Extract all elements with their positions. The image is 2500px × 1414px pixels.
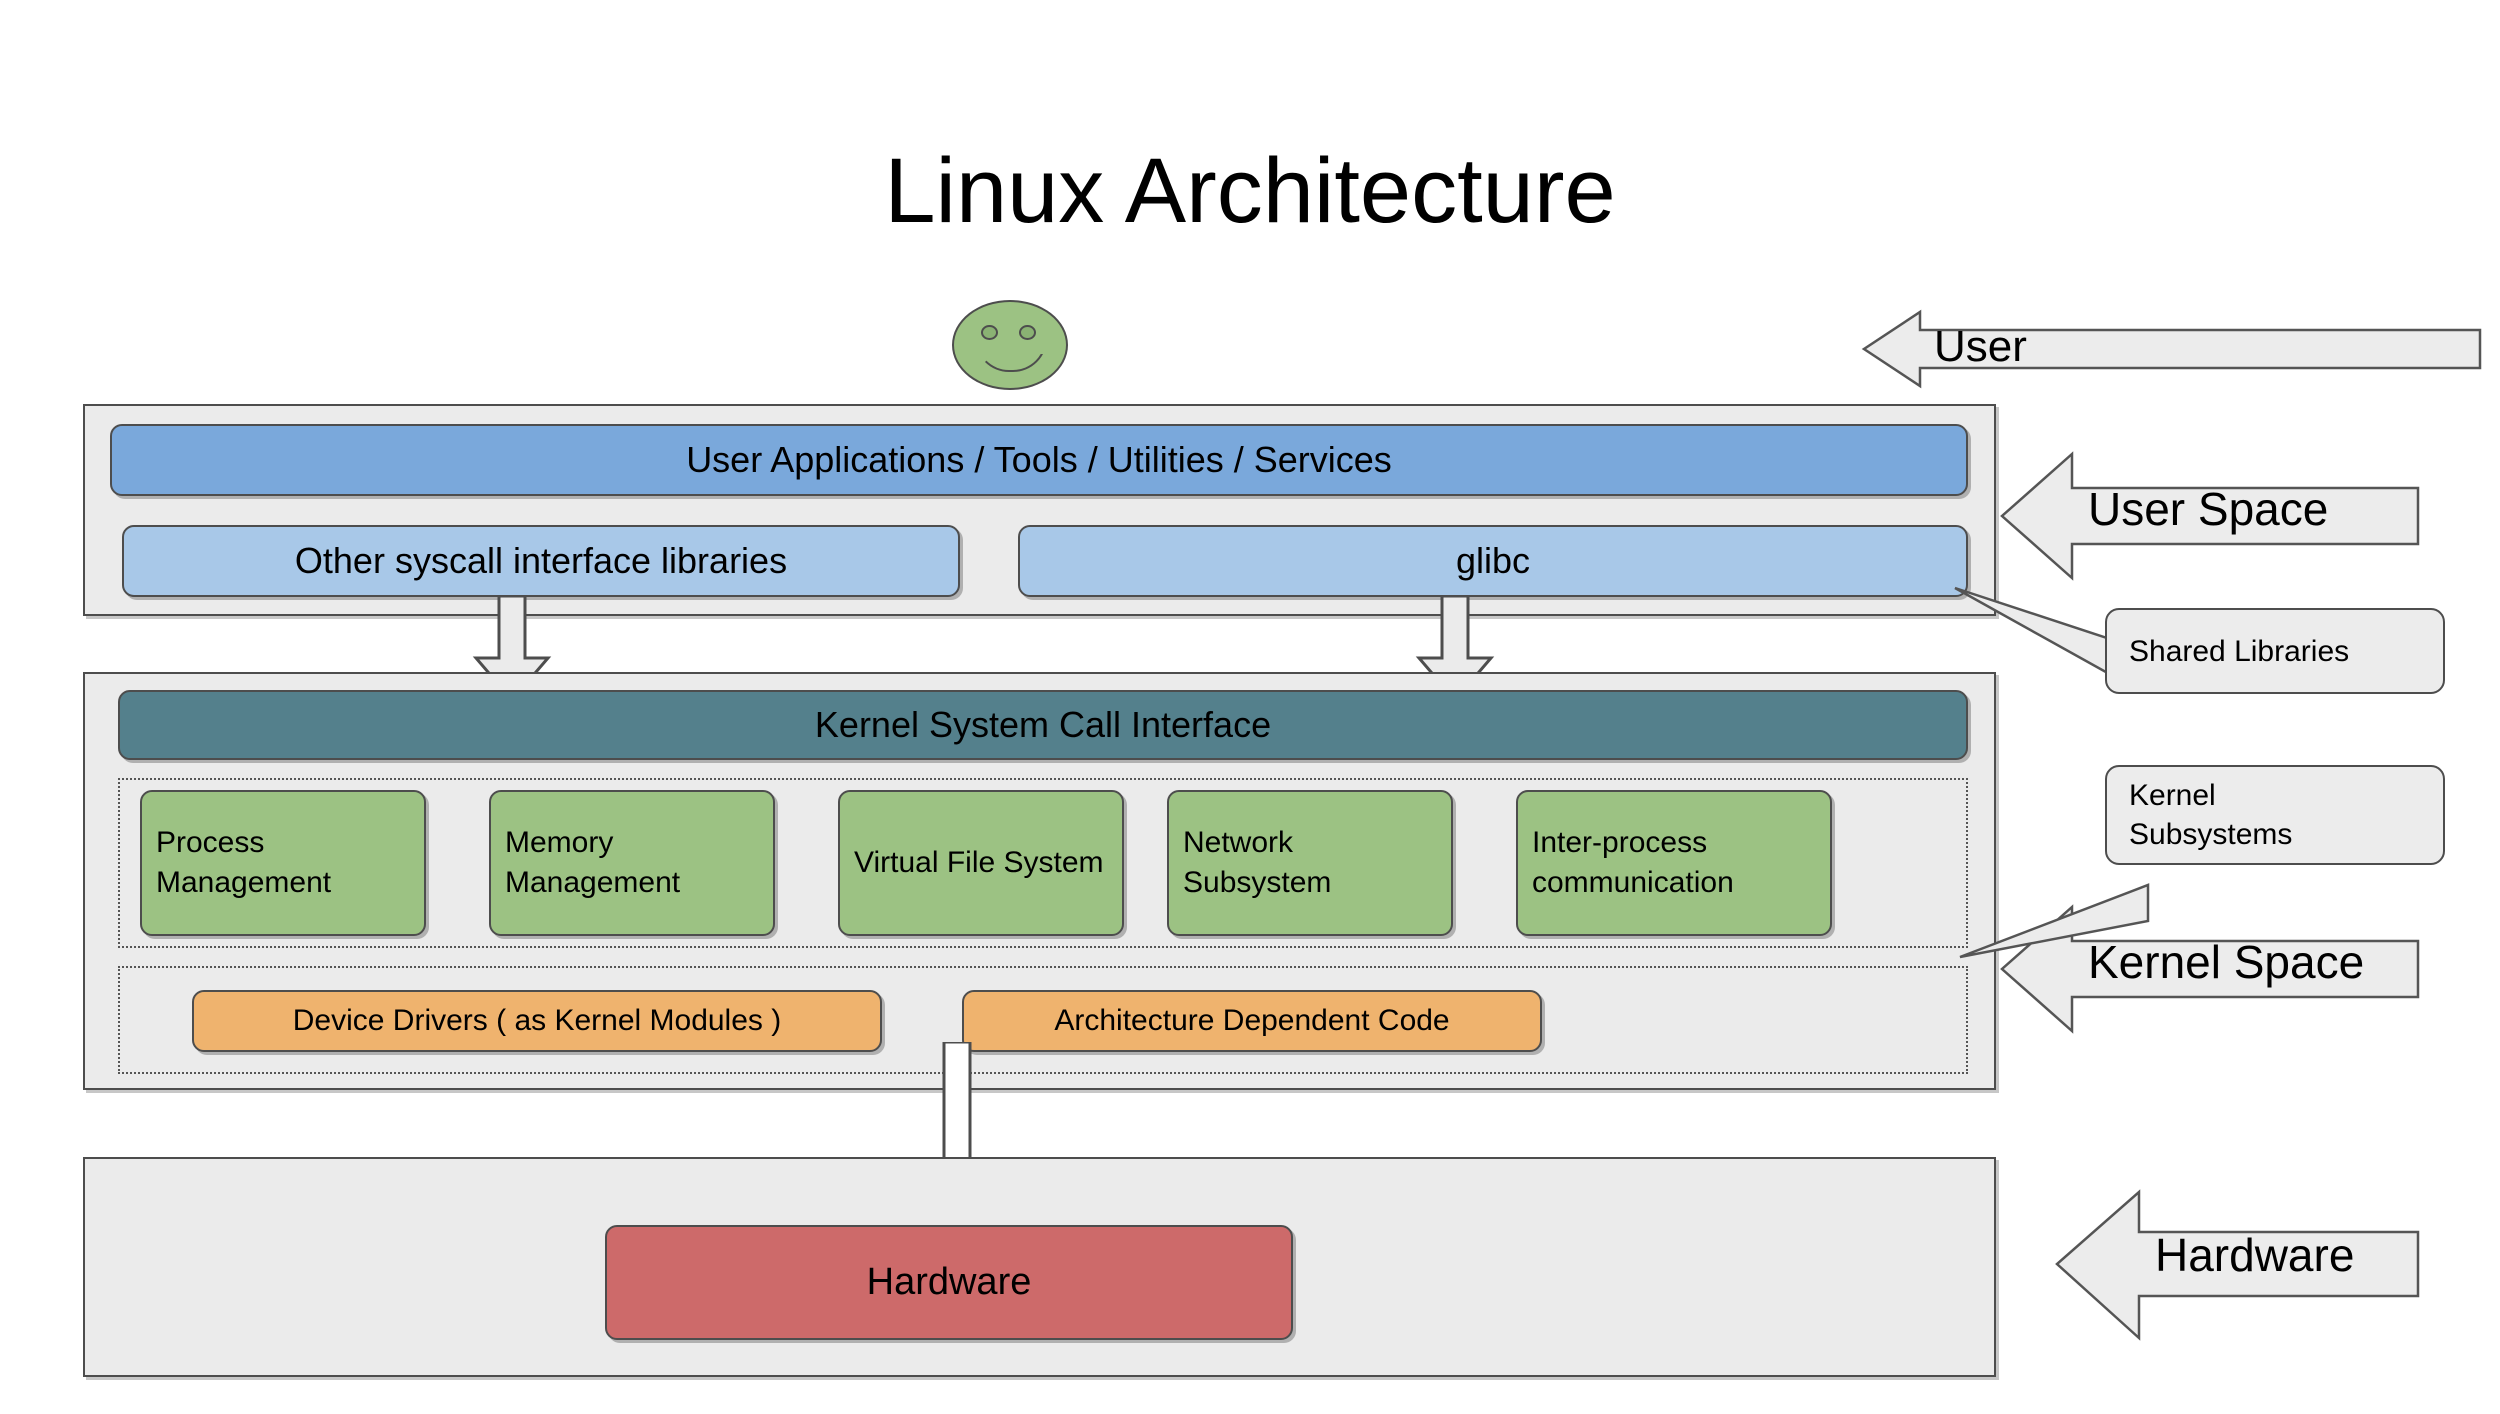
- callout-shared-libraries[interactable]: Shared Libraries: [2105, 608, 2445, 694]
- kernel-syscall-interface-label: Kernel System Call Interface: [815, 704, 1271, 746]
- annotation-arrow-user-space: User Space: [2000, 452, 2420, 580]
- other-syscall-libraries-box[interactable]: Other syscall interface libraries: [122, 525, 960, 597]
- user-applications-box[interactable]: User Applications / Tools / Utilities / …: [110, 424, 1968, 496]
- subsystem-virtual-file-system-box[interactable]: Virtual File System: [838, 790, 1124, 936]
- subsystem-memory-management-box[interactable]: Memory Management: [489, 790, 775, 936]
- architecture-dependent-code-label: Architecture Dependent Code: [1054, 1004, 1449, 1038]
- subsystem-network-label: Network Subsystem: [1183, 823, 1437, 904]
- callout-shared-libraries-label: Shared Libraries: [2129, 632, 2349, 671]
- annotation-arrow-user: User: [1862, 310, 2482, 388]
- page-title: Linux Architecture: [0, 145, 2500, 237]
- leader-line-shared-libraries: [1955, 588, 2115, 678]
- device-drivers-label: Device Drivers ( as Kernel Modules ): [293, 1004, 781, 1038]
- annotation-arrow-user-space-label: User Space: [2088, 482, 2328, 536]
- hardware-box[interactable]: Hardware: [605, 1225, 1293, 1340]
- subsystem-memory-management-label: Memory Management: [505, 823, 759, 904]
- subsystem-ipc-box[interactable]: Inter-process communication: [1516, 790, 1832, 936]
- other-syscall-libraries-label: Other syscall interface libraries: [295, 540, 787, 582]
- leader-line-kernel-subsystems: [1960, 865, 2150, 960]
- callout-kernel-subsystems-label-line1: Kernel: [2129, 776, 2292, 815]
- callout-kernel-subsystems[interactable]: Kernel Subsystems: [2105, 765, 2445, 865]
- glibc-box[interactable]: glibc: [1018, 525, 1968, 597]
- annotation-arrow-hardware-label: Hardware: [2155, 1228, 2354, 1282]
- smiley-mouth-icon: [975, 338, 1047, 372]
- smiley-face-icon: [952, 300, 1068, 390]
- hardware-label: Hardware: [867, 1261, 1032, 1304]
- subsystem-ipc-label: Inter-process communication: [1532, 823, 1816, 904]
- annotation-arrow-user-label: User: [1934, 322, 2027, 372]
- architecture-dependent-code-box[interactable]: Architecture Dependent Code: [962, 990, 1542, 1052]
- device-drivers-box[interactable]: Device Drivers ( as Kernel Modules ): [192, 990, 882, 1052]
- subsystem-network-box[interactable]: Network Subsystem: [1167, 790, 1453, 936]
- kernel-syscall-interface-box[interactable]: Kernel System Call Interface: [118, 690, 1968, 760]
- callout-kernel-subsystems-label-line2: Subsystems: [2129, 815, 2292, 854]
- glibc-label: glibc: [1456, 540, 1530, 582]
- subsystem-process-management-label: Process Management: [156, 823, 410, 904]
- user-applications-label: User Applications / Tools / Utilities / …: [686, 439, 1392, 481]
- subsystem-virtual-file-system-label: Virtual File System: [854, 843, 1104, 884]
- annotation-arrow-hardware: Hardware: [2055, 1190, 2420, 1340]
- subsystem-process-management-box[interactable]: Process Management: [140, 790, 426, 936]
- diagram-canvas: Linux Architecture User Applications / T…: [0, 0, 2500, 1414]
